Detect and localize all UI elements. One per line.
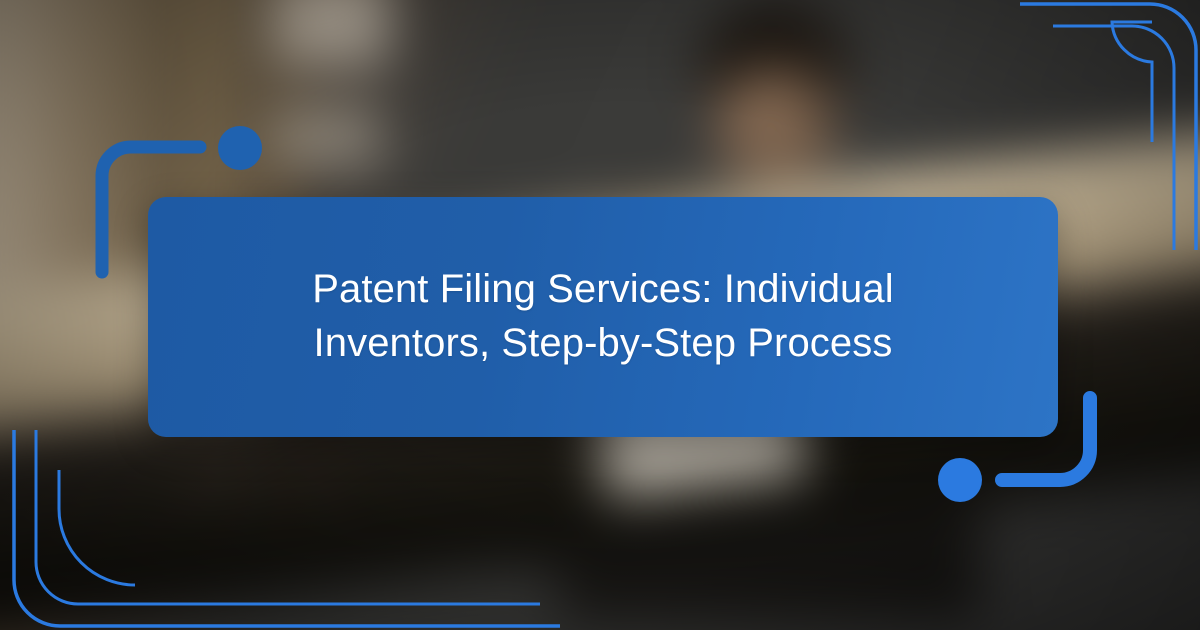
social-card-canvas: Patent Filing Services: Individual Inven…: [0, 0, 1200, 630]
page-title: Patent Filing Services: Individual Inven…: [273, 263, 933, 370]
title-card: Patent Filing Services: Individual Inven…: [148, 197, 1058, 437]
